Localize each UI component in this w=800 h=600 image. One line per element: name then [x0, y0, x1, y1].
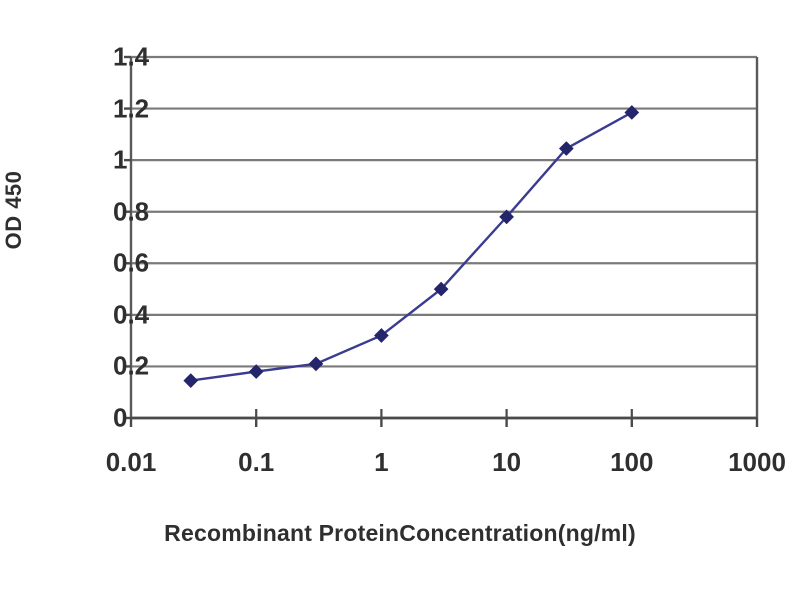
y-axis-title: OD 450: [0, 160, 28, 260]
x-axis-tick-label: 10: [492, 447, 521, 478]
x-axis-tick-label: 1000: [728, 447, 786, 478]
data-point-marker: [184, 374, 197, 387]
x-axis-tick-label: 100: [610, 447, 653, 478]
x-axis-tick-label: 1: [374, 447, 388, 478]
x-axis-title: Recombinant ProteinConcentration(ng/ml): [0, 520, 800, 547]
y-axis-tick-labels: 00.20.40.60.811.21.4: [0, 0, 121, 600]
x-axis-tick-label: 0.01: [106, 447, 157, 478]
chart-container: 00.20.40.60.811.21.4 0.010.11101001000 O…: [0, 0, 800, 600]
x-axis-tick-labels: 0.010.11101001000: [0, 447, 800, 487]
data-point-marker: [309, 357, 322, 370]
x-axis-tick-label: 0.1: [238, 447, 274, 478]
